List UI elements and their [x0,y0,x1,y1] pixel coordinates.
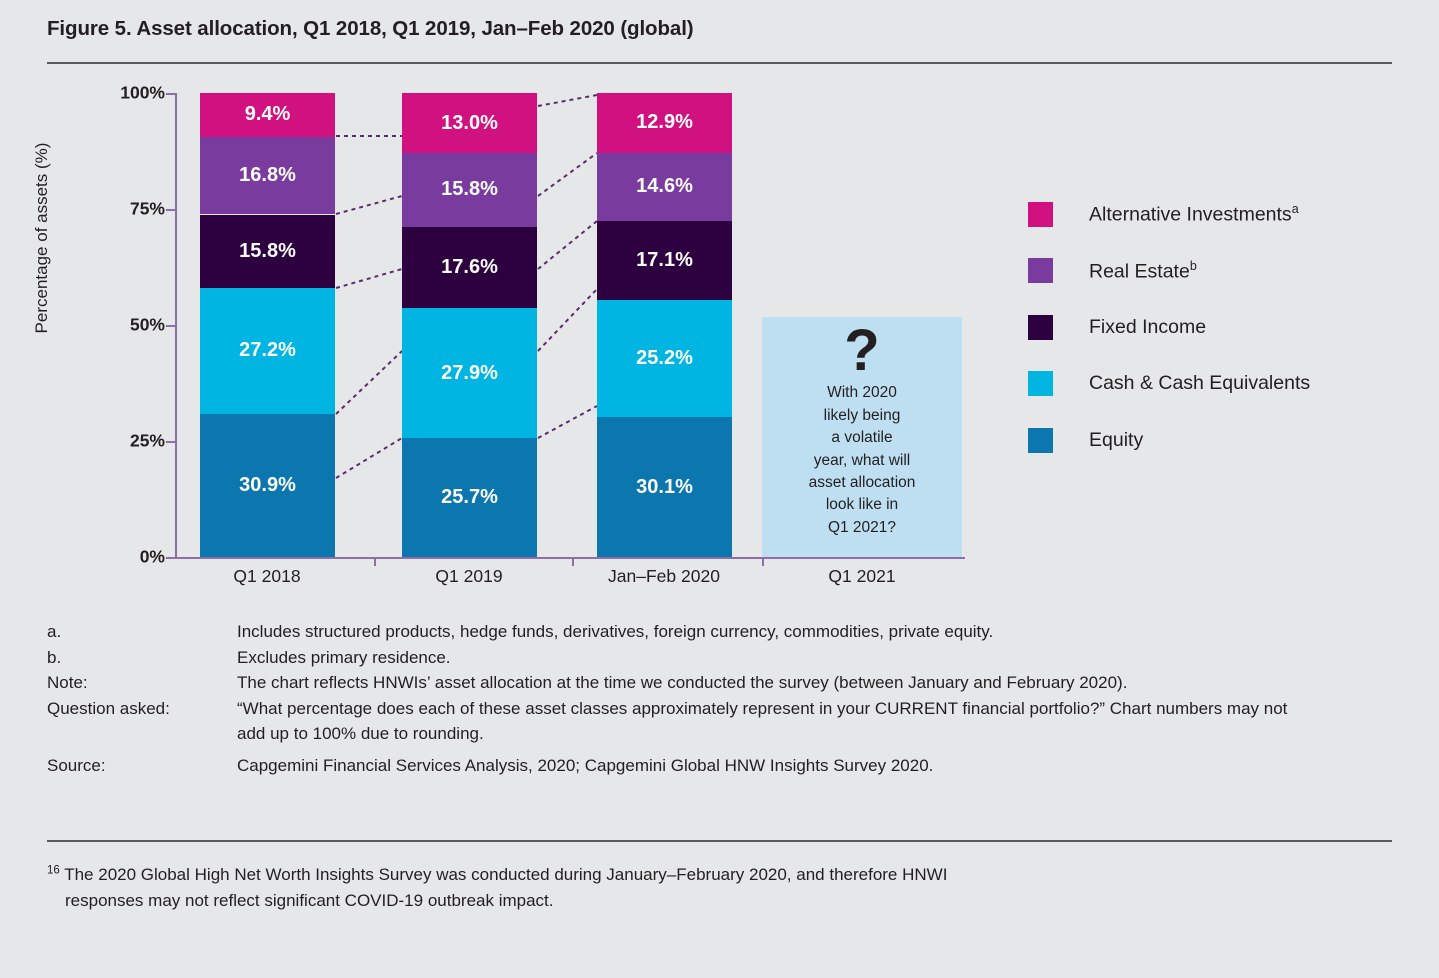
note-value-b: Excludes primary residence. [237,646,1392,671]
legend-item-fixed-income[interactable]: Fixed Income [1028,299,1310,356]
x-tickmark-1 [374,557,376,566]
future-line-6: look like in [826,496,898,513]
future-line-4: year, what will [814,452,910,469]
legend-swatch-fixed-income [1028,315,1053,340]
future-line-5: asset allocation [809,474,916,491]
chart-legend: Alternative Investmentsa Real Estateb Fi… [1028,186,1310,469]
y-axis-line [175,93,177,558]
future-line-2: likely being [824,407,901,424]
segment-real-estate[interactable]: 16.8% [200,137,335,215]
footnote-number: 16 [47,864,60,876]
x-label-jan-feb-2020: Jan–Feb 2020 [564,566,764,587]
x-label-q1-2021: Q1 2021 [762,566,962,587]
segment-cash-equivalents[interactable]: 27.2% [200,288,335,414]
segment-fixed-income[interactable]: 15.8% [200,215,335,288]
y-tickmark-50 [166,325,175,327]
legend-swatch-cash-equivalents [1028,371,1053,396]
bar-jan-feb-2020[interactable]: 12.9% 14.6% 17.1% 25.2% 30.1% [597,93,732,557]
segment-fixed-income[interactable]: 17.6% [402,227,537,309]
y-axis-title: Percentage of assets (%) [32,78,52,398]
y-tick-25: 25% [95,431,165,452]
segment-equity[interactable]: 30.9% [200,414,335,557]
y-tick-50: 50% [95,315,165,336]
note-key-a: a. [47,620,237,645]
y-tickmark-100 [166,93,175,95]
x-label-q1-2018: Q1 2018 [167,566,367,587]
x-tickmark-3 [762,557,764,566]
y-tickmark-0 [166,557,175,559]
legend-label-alternative-investments: Alternative Investmentsa [1089,202,1299,227]
chart-container: Percentage of assets (%) 100% 75% 50% 25… [0,0,1000,600]
note-row-a: a. Includes structured products, hedge f… [47,620,1392,645]
segment-alternative-investments[interactable]: 9.4% [200,93,335,137]
y-tickmark-75 [166,209,175,211]
segment-equity[interactable]: 30.1% [597,417,732,557]
footnote-16: 16 The 2020 Global High Net Worth Insigh… [47,862,1392,914]
legend-item-alternative-investments[interactable]: Alternative Investmentsa [1028,186,1310,243]
bar-q1-2018[interactable]: 9.4% 16.8% 15.8% 27.2% 30.9% [200,93,335,557]
segment-alternative-investments[interactable]: 13.0% [402,93,537,153]
legend-label-real-estate: Real Estateb [1089,259,1197,284]
chart-notes: a. Includes structured products, hedge f… [47,620,1392,780]
segment-real-estate[interactable]: 14.6% [597,153,732,221]
note-key-source: Source: [47,754,237,779]
footnote-divider [47,840,1392,842]
footnote-line-2: responses may not reflect significant CO… [47,888,1392,914]
y-tick-0: 0% [95,547,165,568]
x-label-q1-2019: Q1 2019 [369,566,569,587]
legend-swatch-equity [1028,428,1053,453]
y-tickmark-25 [166,441,175,443]
segment-equity[interactable]: 25.7% [402,438,537,557]
future-line-7: Q1 2021? [828,519,896,536]
note-value-note: The chart reflects HNWIs’ asset allocati… [237,671,1392,696]
note-key-question: Question asked: [47,697,237,722]
y-tick-100: 100% [95,83,165,104]
question-mark-icon: ? [844,323,879,378]
y-tick-75: 75% [95,199,165,220]
x-axis-line [175,557,965,559]
note-key-b: b. [47,646,237,671]
segment-cash-equivalents[interactable]: 27.9% [402,308,537,438]
note-row-b: b. Excludes primary residence. [47,646,1392,671]
note-key-note: Note: [47,671,237,696]
legend-item-cash-equivalents[interactable]: Cash & Cash Equivalents [1028,356,1310,413]
bar-q1-2019[interactable]: 13.0% 15.8% 17.6% 27.9% 25.7% [402,93,537,557]
legend-swatch-real-estate [1028,258,1053,283]
segment-cash-equivalents[interactable]: 25.2% [597,300,732,417]
x-tickmark-2 [572,557,574,566]
note-row-note: Note: The chart reflects HNWIs’ asset al… [47,671,1392,696]
legend-item-equity[interactable]: Equity [1028,412,1310,469]
segment-real-estate[interactable]: 15.8% [402,153,537,226]
footnote-line-1: The 2020 Global High Net Worth Insights … [64,865,947,884]
segment-alternative-investments[interactable]: 12.9% [597,93,732,153]
future-outlook-text: With 2020 likely being a volatile year, … [809,382,916,539]
figure-page: Figure 5. Asset allocation, Q1 2018, Q1 … [0,0,1439,978]
future-line-1: With 2020 [827,384,897,401]
future-line-3: a volatile [831,429,892,446]
note-value-question: “What percentage does each of these asse… [237,697,1317,746]
y-axis-ticks: 100% 75% 50% 25% 0% [95,0,165,600]
note-value-source: Capgemini Financial Services Analysis, 2… [237,754,1392,779]
future-outlook-panel[interactable]: ? With 2020 likely being a volatile year… [762,317,962,557]
note-row-question: Question asked: “What percentage does ea… [47,697,1392,746]
legend-label-fixed-income: Fixed Income [1089,316,1206,339]
legend-swatch-alternative-investments [1028,202,1053,227]
segment-fixed-income[interactable]: 17.1% [597,221,732,300]
note-row-source: Source: Capgemini Financial Services Ana… [47,754,1392,779]
legend-label-equity: Equity [1089,429,1143,452]
legend-label-cash-equivalents: Cash & Cash Equivalents [1089,372,1310,395]
note-value-a: Includes structured products, hedge fund… [237,620,1392,645]
legend-item-real-estate[interactable]: Real Estateb [1028,243,1310,300]
